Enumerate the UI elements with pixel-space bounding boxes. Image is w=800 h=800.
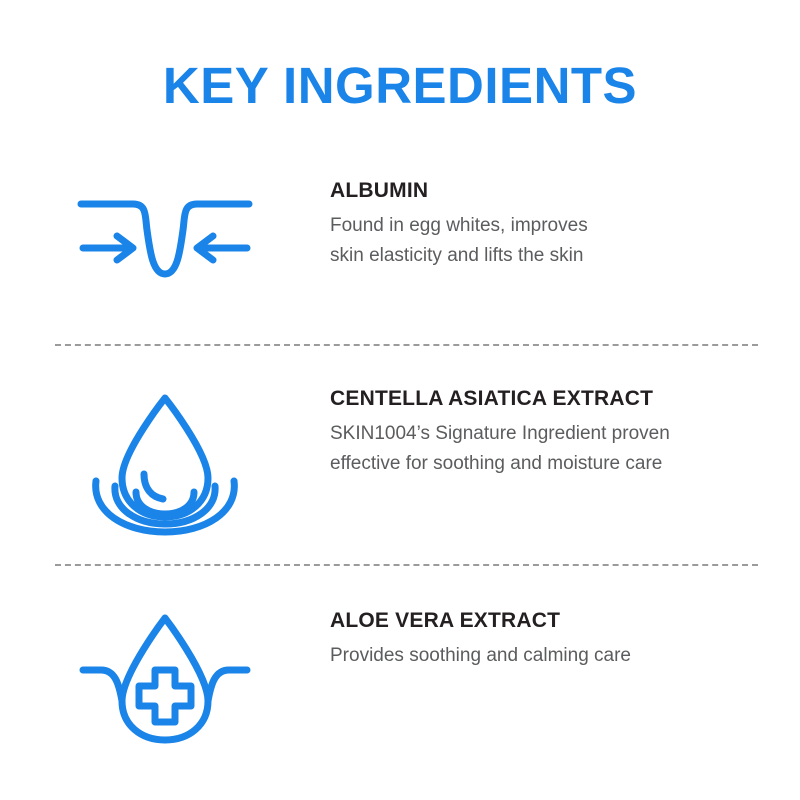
droplet-cross-care-icon <box>75 608 255 748</box>
ingredient-description-albumin: Found in egg whites, improves skin elast… <box>330 211 772 270</box>
description-line: Found in egg whites, improves <box>330 211 772 240</box>
description-line: skin elasticity and lifts the skin <box>330 241 772 270</box>
water-droplet-ripple-icon <box>80 386 250 536</box>
icon-cell-aloe <box>0 608 330 748</box>
ingredient-row-albumin: ALBUMIN Found in egg whites, improves sk… <box>0 178 800 292</box>
description-line: Provides soothing and calming care <box>330 641 772 670</box>
ingredient-name-aloe: ALOE VERA EXTRACT <box>330 608 772 634</box>
ingredient-row-centella: CENTELLA ASIATICA EXTRACT SKIN1004’s Sig… <box>0 386 800 536</box>
text-cell-centella: CENTELLA ASIATICA EXTRACT SKIN1004’s Sig… <box>330 386 800 478</box>
pore-tightening-icon <box>75 182 255 292</box>
key-ingredients-infographic: KEY INGREDIENTS ALBUMIN Found in egg <box>0 0 800 800</box>
icon-cell-centella <box>0 386 330 536</box>
section-divider <box>55 564 758 566</box>
text-cell-aloe: ALOE VERA EXTRACT Provides soothing and … <box>330 608 800 671</box>
ingredient-name-centella: CENTELLA ASIATICA EXTRACT <box>330 386 772 412</box>
ingredient-description-aloe: Provides soothing and calming care <box>330 641 772 670</box>
page-title: KEY INGREDIENTS <box>0 58 800 114</box>
ingredient-description-centella: SKIN1004’s Signature Ingredient proven e… <box>330 419 772 478</box>
description-line: SKIN1004’s Signature Ingredient proven <box>330 419 772 448</box>
ingredient-name-albumin: ALBUMIN <box>330 178 772 204</box>
icon-cell-albumin <box>0 178 330 292</box>
ingredient-row-aloe: ALOE VERA EXTRACT Provides soothing and … <box>0 608 800 748</box>
section-divider <box>55 344 758 346</box>
description-line: effective for soothing and moisture care <box>330 449 772 478</box>
text-cell-albumin: ALBUMIN Found in egg whites, improves sk… <box>330 178 800 270</box>
